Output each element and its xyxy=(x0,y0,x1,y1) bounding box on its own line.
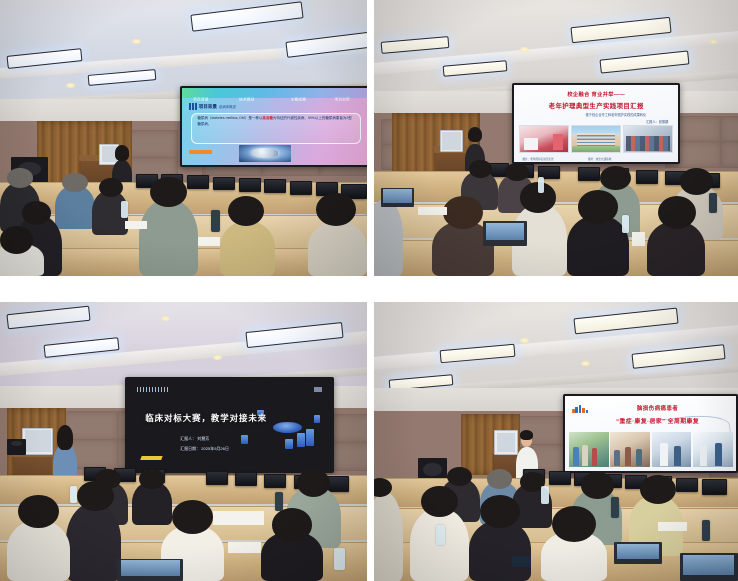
slide-section-title: 项目背景 xyxy=(199,104,217,110)
smartphone[interactable] xyxy=(512,556,530,567)
student-monitor[interactable] xyxy=(264,474,286,488)
water-bottle xyxy=(121,201,128,218)
audience-head xyxy=(578,190,618,223)
water-bottle xyxy=(436,525,445,545)
projector-screen[interactable]: 临床对标大赛，教学对接未来 汇报人： 刘慧芳 汇报日期： 2025年9月26日 xyxy=(125,377,335,473)
slide-presenter-line: 汇报人： 刘慧芳 xyxy=(180,436,209,442)
paper-cup xyxy=(632,232,645,246)
audience-head xyxy=(680,168,713,194)
audience-head xyxy=(316,193,356,226)
slide-headline-2: “重症·康复·居家” 全周期康复 xyxy=(616,416,699,425)
slide-photo-building xyxy=(571,125,621,153)
thermos-bottle xyxy=(211,210,220,232)
downlight xyxy=(132,39,141,44)
audience-member xyxy=(567,215,629,276)
slide-photo-group xyxy=(623,125,673,153)
slide-section-header: 项目背景 疾病体概述 xyxy=(189,103,236,110)
downlight xyxy=(213,355,222,360)
downlight xyxy=(520,47,529,52)
slide-surface: 临床对标大赛，教学对接未来 汇报人： 刘慧芳 汇报日期： 2025年9月26日 xyxy=(127,379,333,471)
audience-head xyxy=(0,226,33,254)
lecture-hall-scene: 临床对标大赛，教学对接未来 汇报人： 刘慧芳 汇报日期： 2025年9月26日 xyxy=(0,302,367,581)
projector-screen[interactable]: 项目背景 技术路径 主要成果 项目创新 项目背景 疾病体概述 糖尿病（diabe… xyxy=(180,86,367,167)
projector-screen[interactable]: 校企融合 育业并举—— 老年护理典型生产实践项目汇报 基于校企合作工种老年照护实… xyxy=(512,83,680,164)
audience-head xyxy=(600,166,631,191)
speaker-cabinet xyxy=(7,439,25,456)
student-monitor[interactable] xyxy=(213,177,235,191)
stone-tile xyxy=(720,141,738,168)
audience-head xyxy=(658,196,696,229)
podium-monitor xyxy=(494,430,518,454)
water-bottle xyxy=(541,486,548,504)
paper-sheet xyxy=(658,522,687,530)
audience-head xyxy=(139,469,165,489)
photo-grid: 项目背景 技术路径 主要成果 项目创新 项目背景 疾病体概述 糖尿病（diabe… xyxy=(0,0,738,581)
paper-sheet xyxy=(198,237,220,245)
water-bottle xyxy=(622,215,629,233)
slide-photo-strip xyxy=(519,125,673,153)
iso-block xyxy=(285,439,293,449)
audience-head xyxy=(18,495,58,528)
slide-background: 临床对标大赛，教学对接未来 汇报人： 刘慧芳 汇报日期： 2025年9月26日 xyxy=(127,379,333,471)
audience-head xyxy=(7,168,33,187)
audience-head xyxy=(469,160,493,178)
laptop[interactable] xyxy=(614,542,661,564)
stone-tile xyxy=(330,442,367,472)
slide-surface: 项目背景 技术路径 主要成果 项目创新 项目背景 疾病体概述 糖尿病（diabe… xyxy=(182,88,367,165)
slide-date-line: 汇报日期： 2025年9月26日 xyxy=(180,446,229,452)
presenter-hair xyxy=(115,145,129,160)
student-monitor[interactable] xyxy=(290,181,312,195)
water-bottle xyxy=(334,548,345,570)
slide-photo-ward-nursing xyxy=(652,432,692,467)
slide-photo-strip xyxy=(569,432,733,467)
slide-surface: 校企融合 育业并举—— 老年护理典型生产实践项目汇报 基于校企合作工种老年照护实… xyxy=(514,85,678,162)
laser-pointer-mark-icon xyxy=(140,456,162,460)
lecture-hall-scene: 项目背景 技术路径 主要成果 项目创新 项目背景 疾病体概述 糖尿病（diabe… xyxy=(0,0,367,276)
slide-nav-tab-2: 主要成果 xyxy=(291,97,307,102)
iso-block xyxy=(306,429,314,447)
slide-headline-1: 校企融合 育业并举—— xyxy=(567,91,625,98)
audience-member xyxy=(308,221,367,276)
audience-head xyxy=(62,173,88,192)
thermos-bottle xyxy=(611,497,620,518)
lecture-hall-scene: 脑损伤病痛患者 “重症·康复·居家” 全周期康复 xyxy=(374,302,738,581)
body-highlight: 高血糖 xyxy=(262,116,273,120)
photo-bottom-left[interactable]: 临床对标大赛，教学对接未来 汇报人： 刘慧芳 汇报日期： 2025年9月26日 xyxy=(0,302,367,581)
iso-disc xyxy=(273,422,303,434)
slide-headline-1: 脑损伤病痛患者 xyxy=(637,404,678,412)
student-monitor[interactable] xyxy=(676,478,698,492)
slide-headline-2: 老年护理典型生产实践项目汇报 xyxy=(549,101,644,110)
lecture-hall-scene: 校企融合 育业并举—— 老年护理典型生产实践项目汇报 基于校企合作工种老年照护实… xyxy=(374,0,738,276)
presenter-hair xyxy=(468,127,482,142)
slide-background: 项目背景 技术路径 主要成果 项目创新 项目背景 疾病体概述 糖尿病（diabe… xyxy=(182,88,367,165)
slide-caption-right: 图片：校企共建基地 xyxy=(588,157,611,161)
slide-surface: 脑损伤病痛患者 “重症·康复·居家” 全周期康复 xyxy=(565,396,736,471)
audience-head xyxy=(487,469,512,489)
stone-tile xyxy=(125,130,178,160)
slide-background: 脑损伤病痛患者 “重症·康复·居家” 全周期康复 xyxy=(565,396,736,471)
water-bottle xyxy=(538,177,545,194)
audience-head xyxy=(552,506,596,542)
slide-presenter-line: 汇报人：张丽娜 xyxy=(646,119,668,124)
slide-body-box: 糖尿病（diabetes mellitus, DM）是一种以高血糖为特征的代谢性… xyxy=(191,113,361,144)
slide-logo-icon xyxy=(572,404,591,414)
audience-member xyxy=(469,520,531,581)
stone-tile xyxy=(720,116,738,143)
slide-body-text: 糖尿病（diabetes mellitus, DM）是一种以高血糖为特征的代谢性… xyxy=(197,116,355,127)
water-bottle xyxy=(70,486,77,503)
projector-screen[interactable]: 脑损伤病痛患者 “重症·康复·居家” 全周期康复 xyxy=(563,394,738,473)
paper-sheet xyxy=(418,207,447,215)
presenter-hair xyxy=(520,430,534,440)
student-monitor[interactable] xyxy=(578,167,600,181)
audience-member xyxy=(647,221,705,276)
laptop[interactable] xyxy=(680,553,738,581)
slide-nav-tab-3: 项目创新 xyxy=(334,97,350,102)
downlight xyxy=(581,361,590,366)
slide-photo-rehab-training xyxy=(693,432,733,467)
downlight xyxy=(709,39,718,44)
slide-accent-badge xyxy=(189,150,212,154)
slide-title: 临床对标大赛，教学对接未来 xyxy=(145,412,267,424)
audience-head xyxy=(505,163,529,181)
podium-monitor xyxy=(22,428,53,455)
audience-head xyxy=(421,486,457,517)
stone-tile xyxy=(330,414,367,444)
audience-member xyxy=(139,199,198,276)
photo-top-right[interactable]: 校企融合 育业并举—— 老年护理典型生产实践项目汇报 基于校企合作工种老年照护实… xyxy=(374,0,738,276)
paper-sheet xyxy=(125,221,147,229)
thermos-bottle xyxy=(709,193,717,212)
student-monitor[interactable] xyxy=(235,472,257,486)
open-book xyxy=(213,511,264,525)
audience-head xyxy=(480,495,520,528)
laptop[interactable] xyxy=(381,188,414,207)
slide-subline: 基于校企合作工种老年照护实践的成果转化 xyxy=(586,112,647,117)
student-monitor[interactable] xyxy=(187,175,209,189)
audience-member xyxy=(66,503,121,581)
photo-top-left[interactable]: 项目背景 技术路径 主要成果 项目创新 项目背景 疾病体概述 糖尿病（diabe… xyxy=(0,0,367,276)
student-monitor[interactable] xyxy=(206,471,228,485)
student-monitor[interactable] xyxy=(702,479,727,494)
student-monitor[interactable] xyxy=(264,179,286,193)
audience-member xyxy=(220,221,275,276)
downlight xyxy=(66,83,75,88)
audience-member xyxy=(410,508,468,581)
slide-photo-daily-care xyxy=(610,432,650,467)
slide-photo-ward xyxy=(519,125,569,153)
slide-nav-bar xyxy=(182,88,367,98)
slide-corner-mark-icon xyxy=(314,387,322,393)
thermos-bottle xyxy=(702,520,711,541)
slide-caption-left: 图片：老年照护实训室实景 xyxy=(523,157,554,161)
slide-nav-tab-1: 技术路径 xyxy=(239,97,255,102)
audience-head xyxy=(581,472,614,499)
student-monitor[interactable] xyxy=(239,178,261,192)
paper-sheet xyxy=(228,542,261,553)
audience-head xyxy=(77,481,114,512)
slide-illustration xyxy=(239,145,291,162)
slide-logo-icon xyxy=(137,387,170,393)
audience-head xyxy=(150,177,187,207)
podium-monitor xyxy=(440,130,464,153)
student-monitor[interactable] xyxy=(549,471,571,485)
iso-block xyxy=(241,435,248,443)
iso-block xyxy=(314,415,320,423)
slide-nav-tab-0: 项目背景 xyxy=(193,97,209,102)
audience-head xyxy=(22,201,51,224)
photo-bottom-right[interactable]: 脑损伤病痛患者 “重症·康复·居家” 全周期康复 xyxy=(374,302,738,581)
laptop[interactable] xyxy=(483,221,527,246)
audience-head xyxy=(272,508,312,541)
slide-isometric-art xyxy=(227,396,326,464)
student-monitor[interactable] xyxy=(636,170,658,184)
section-marker-icon xyxy=(189,103,196,110)
body-prefix: 糖尿病（diabetes mellitus, DM）是一种以 xyxy=(197,116,262,120)
slide-background: 校企融合 育业并举—— 老年护理典型生产实践项目汇报 基于校企合作工种老年照护实… xyxy=(514,85,678,162)
iso-block xyxy=(297,433,306,447)
audience-head xyxy=(443,196,483,229)
slide-photo-outdoor-rehab xyxy=(569,432,609,467)
audience-head xyxy=(172,500,212,533)
slide-section-subtitle: 疾病体概述 xyxy=(219,104,236,109)
audience-member xyxy=(7,520,69,581)
thermos-bottle xyxy=(275,492,283,512)
laptop[interactable] xyxy=(117,559,183,581)
presenter-hair xyxy=(57,425,74,450)
